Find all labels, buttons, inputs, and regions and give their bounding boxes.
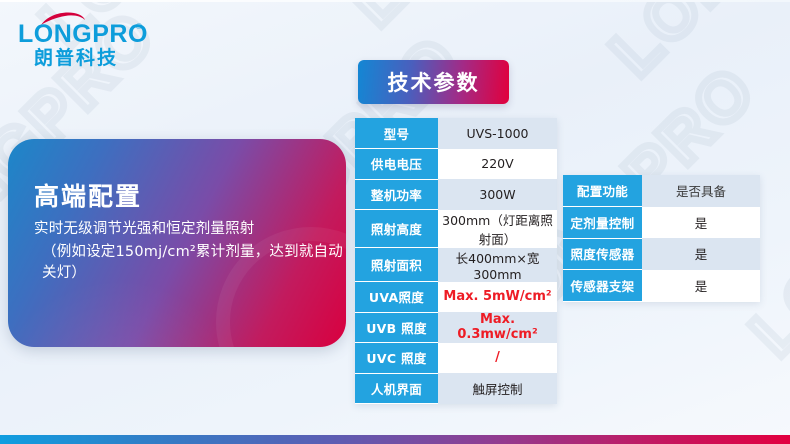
table-row: UVC 照度/	[355, 343, 557, 374]
spec-row-value: 220V	[438, 149, 557, 180]
config-row-value: 是	[642, 270, 760, 302]
config-row-value: 是	[642, 238, 760, 270]
watermark-text: LONGPRO	[335, 0, 640, 40]
brand-logo: LONGPRO ® 朗普科技	[18, 12, 150, 60]
table-row: UVB 照度Max. 0.3mw/cm²	[355, 312, 557, 343]
spec-row-key: 人机界面	[355, 373, 438, 404]
top-divider	[0, 0, 790, 2]
spec-row-key: UVA照度	[355, 282, 438, 313]
table-row: 人机界面触屏控制	[355, 373, 557, 404]
logo-registered-mark: ®	[136, 22, 142, 31]
spec-row-key: 供电电压	[355, 149, 438, 180]
table-row: 配置功能是否具备	[563, 175, 760, 207]
watermark-text: LONGPRO	[595, 0, 790, 90]
section-banner-label: 技术参数	[388, 67, 480, 97]
table-row: 照射高度300mm（灯距离照射面）	[355, 210, 557, 248]
spec-row-key: UVB 照度	[355, 312, 438, 343]
spec-table-body: 型号UVS-1000供电电压220V整机功率300W照射高度300mm（灯距离照…	[355, 118, 557, 404]
table-row: UVA照度Max. 5mW/cm²	[355, 282, 557, 313]
spec-row-value: Max. 0.3mw/cm²	[438, 312, 557, 343]
spec-table: 型号UVS-1000供电电压220V整机功率300W照射高度300mm（灯距离照…	[355, 118, 557, 404]
config-table-body: 配置功能是否具备定剂量控制是照度传感器是传感器支架是	[563, 175, 760, 301]
bottom-gradient-bar	[0, 435, 790, 444]
config-row-value: 是否具备	[642, 175, 760, 207]
slide-canvas: LONGPRO LONGPRO LONGPRO LONGPRO LONGPRO …	[0, 0, 790, 444]
table-row: 照度传感器是	[563, 238, 760, 270]
config-table: 配置功能是否具备定剂量控制是照度传感器是传感器支架是	[563, 175, 760, 302]
table-row: 供电电压220V	[355, 149, 557, 180]
spec-row-value: 触屏控制	[438, 373, 557, 404]
config-row-value: 是	[642, 207, 760, 239]
spec-row-value: Max. 5mW/cm²	[438, 282, 557, 313]
table-row: 型号UVS-1000	[355, 118, 557, 149]
spec-row-value: 300mm（灯距离照射面）	[438, 210, 557, 248]
spec-row-key: 整机功率	[355, 179, 438, 210]
config-row-key: 配置功能	[563, 175, 642, 207]
section-banner: 技术参数	[358, 60, 509, 104]
table-row: 定剂量控制是	[563, 207, 760, 239]
spec-row-value: /	[438, 343, 557, 374]
spec-row-value: 300W	[438, 179, 557, 210]
panel-description-line-2: （例如设定150mj/cm²累计剂量，达到就自动关灯）	[42, 240, 346, 282]
spec-row-key: 照射面积	[355, 248, 438, 282]
table-row: 传感器支架是	[563, 270, 760, 302]
panel-title: 高端配置	[34, 177, 142, 213]
config-row-key: 定剂量控制	[563, 207, 642, 239]
spec-row-key: 照射高度	[355, 210, 438, 248]
spec-row-value: UVS-1000	[438, 118, 557, 149]
spec-row-value: 长400mm×宽300mm	[438, 248, 557, 282]
spec-row-key: UVC 照度	[355, 343, 438, 374]
highlight-panel: 高端配置 实时无级调节光强和恒定剂量照射 （例如设定150mj/cm²累计剂量，…	[8, 139, 346, 347]
table-row: 整机功率300W	[355, 179, 557, 210]
spec-row-key: 型号	[355, 118, 438, 149]
config-row-key: 传感器支架	[563, 270, 642, 302]
config-row-key: 照度传感器	[563, 238, 642, 270]
table-row: 照射面积长400mm×宽300mm	[355, 248, 557, 282]
logo-chinese: 朗普科技	[34, 43, 118, 70]
panel-description-line-1: 实时无级调节光强和恒定剂量照射	[34, 217, 255, 238]
